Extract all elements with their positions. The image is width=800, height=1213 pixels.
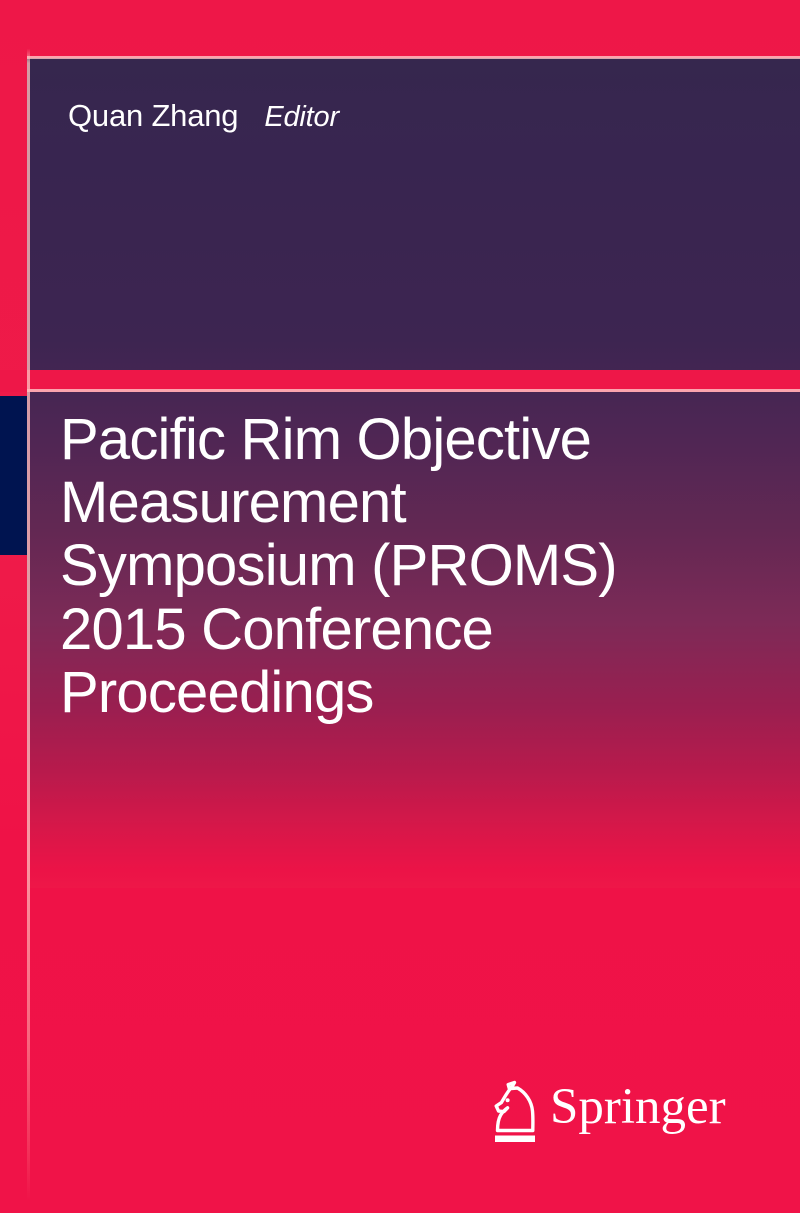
springer-wordmark: Springer (550, 1082, 726, 1133)
editor-role-label: Editor (264, 101, 339, 133)
panel-top-border (27, 56, 800, 59)
title-line-1: Pacific Rim Objective (60, 408, 700, 471)
editor-name: Quan Zhang (68, 98, 238, 133)
title-line-5: Proceedings (60, 661, 700, 724)
navy-spine-tab (0, 396, 27, 555)
byline: Quan ZhangEditor (68, 98, 339, 134)
book-cover: Quan ZhangEditor Pacific Rim Objective M… (0, 0, 800, 1213)
publisher-logo: Springer (484, 1076, 694, 1152)
vertical-hairline (27, 0, 30, 1213)
section-divider-line (27, 389, 800, 392)
title-line-2: Measurement (60, 471, 700, 534)
book-title: Pacific Rim Objective Measurement Sympos… (60, 408, 700, 724)
title-line-4: 2015 Conference (60, 598, 700, 661)
title-line-3: Symposium (PROMS) (60, 534, 700, 597)
springer-knight-icon (484, 1078, 542, 1150)
